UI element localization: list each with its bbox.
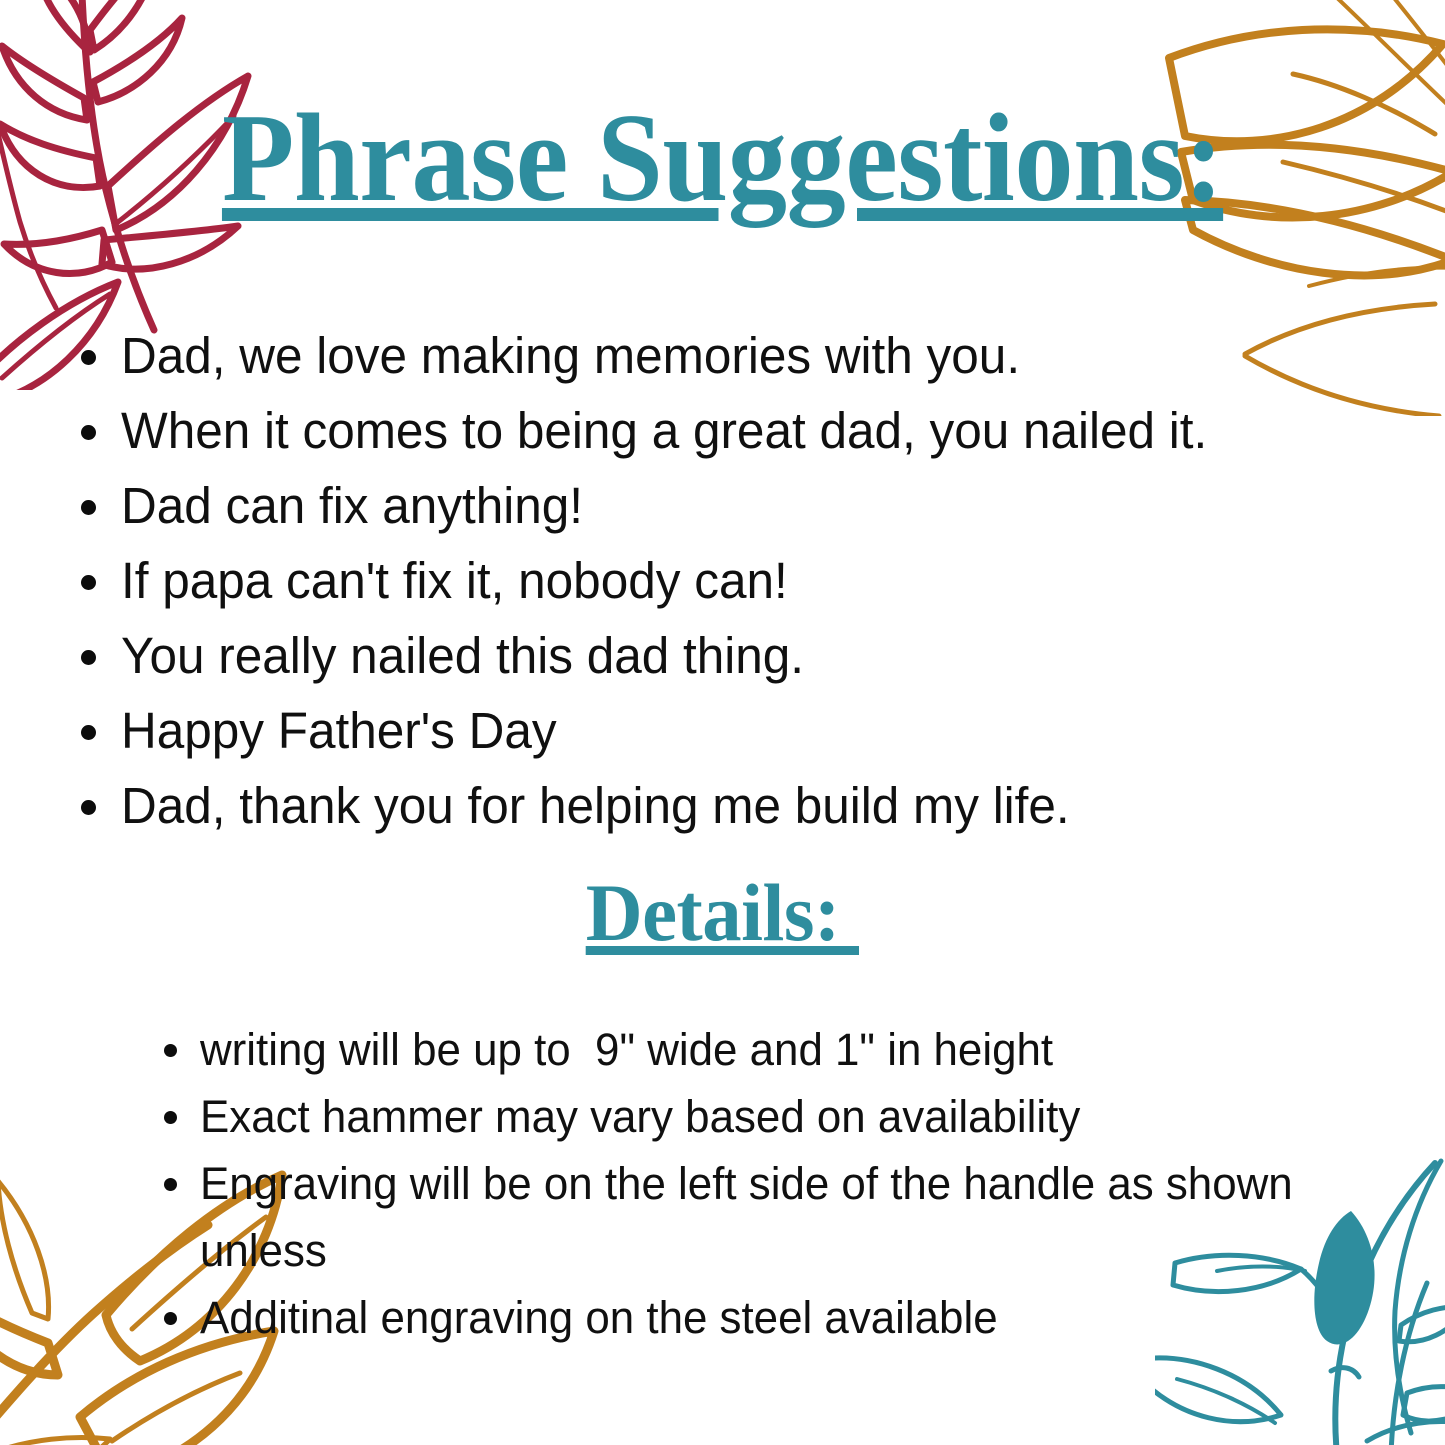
list-item-label: Exact hammer may vary based on availabil…	[200, 1083, 1390, 1150]
list-item-label: writing will be up to 9" wide and 1" in …	[200, 1016, 1390, 1083]
list-item: You really nailed this dad thing.	[78, 618, 1408, 693]
list-item: Additinal engraving on the steel availab…	[160, 1284, 1420, 1351]
phrase-suggestions-list: Dad, we love making memories with you. W…	[78, 318, 1408, 843]
list-item: Dad, we love making memories with you.	[78, 318, 1408, 393]
list-item-label: Dad can fix anything!	[121, 468, 1369, 543]
list-item: If papa can't fix it, nobody can!	[78, 543, 1408, 618]
bullet-icon	[164, 1178, 177, 1191]
page-title: Phrase Suggestions:	[222, 96, 1223, 222]
details-list: writing will be up to 9" wide and 1" in …	[160, 1016, 1420, 1351]
bullet-icon	[81, 350, 96, 365]
poster-canvas: Phrase Suggestions: Dad, we love making …	[0, 0, 1445, 1445]
page-title-block: Phrase Suggestions:	[0, 96, 1445, 222]
bullet-icon	[81, 575, 96, 590]
bullet-icon	[81, 425, 96, 440]
bullet-icon	[81, 650, 96, 665]
list-item-label: Dad, thank you for helping me build my l…	[121, 768, 1369, 843]
list-item-label: Dad, we love making memories with you.	[121, 318, 1369, 393]
bullet-icon	[164, 1111, 177, 1124]
details-title-block: Details:	[0, 872, 1445, 954]
list-item: When it comes to being a great dad, you …	[78, 393, 1408, 468]
list-item-label: If papa can't fix it, nobody can!	[121, 543, 1369, 618]
list-item-label: Engraving will be on the left side of th…	[200, 1150, 1390, 1284]
list-item: writing will be up to 9" wide and 1" in …	[160, 1016, 1420, 1083]
list-item: Dad, thank you for helping me build my l…	[78, 768, 1408, 843]
list-item: Dad can fix anything!	[78, 468, 1408, 543]
list-item-label: Happy Father's Day	[121, 693, 1369, 768]
list-item: Engraving will be on the left side of th…	[160, 1150, 1420, 1284]
list-item-label: Additinal engraving on the steel availab…	[200, 1284, 1390, 1351]
list-item-label: You really nailed this dad thing.	[121, 618, 1369, 693]
bullet-icon	[81, 725, 96, 740]
bullet-icon	[81, 500, 96, 515]
list-item-label: When it comes to being a great dad, you …	[121, 393, 1369, 468]
bullet-icon	[164, 1044, 177, 1057]
bullet-icon	[81, 800, 96, 815]
list-item: Happy Father's Day	[78, 693, 1408, 768]
list-item: Exact hammer may vary based on availabil…	[160, 1083, 1420, 1150]
details-heading: Details:	[586, 872, 859, 954]
bullet-icon	[164, 1312, 177, 1325]
